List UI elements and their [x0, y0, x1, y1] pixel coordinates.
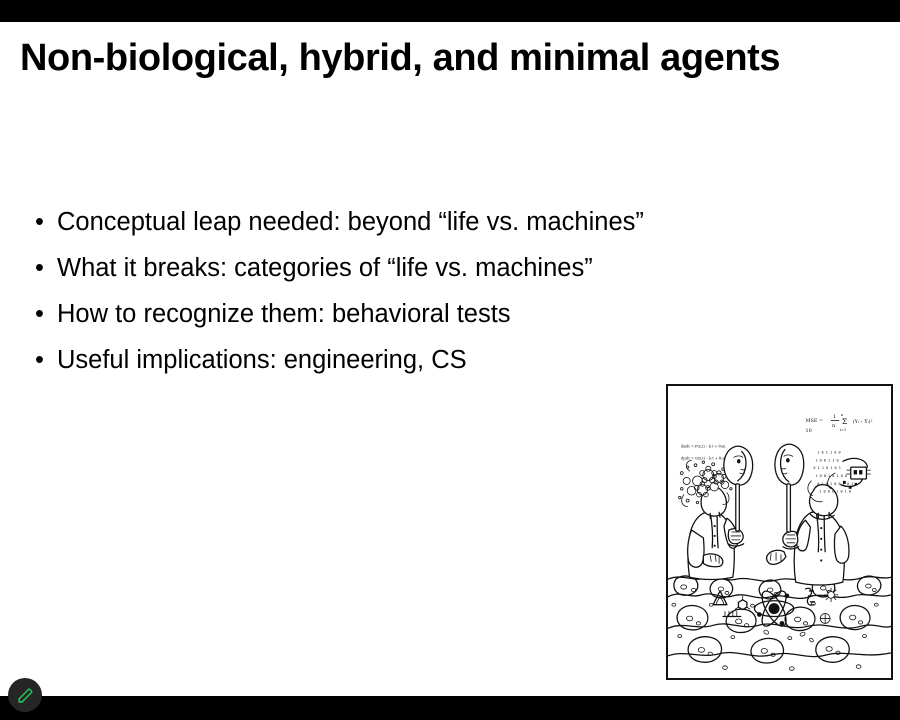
svg-text:1 0 1 1 0 0: 1 0 1 1 0 0	[817, 450, 840, 454]
slide-figure-two-scientists-with-masks-cartoon: .ln{fill:none;stroke:#111;stroke-width:1…	[666, 384, 893, 680]
viewer-top-bar	[0, 0, 900, 22]
svg-text:1: 1	[833, 414, 836, 420]
svg-text:0 1 1 0 1 0 1: 0 1 1 0 1 0 1	[813, 466, 841, 470]
slide-canvas: Non-biological, hybrid, and minimal agen…	[0, 22, 900, 696]
svg-text:1 0 0 1 1 0: 1 0 0 1 1 0	[815, 458, 838, 462]
bullet-item-2: What it breaks: categories of “life vs. …	[33, 250, 733, 286]
svg-text:(Yᵢ – Ŷᵢ)²: (Yᵢ – Ŷᵢ)²	[853, 417, 873, 425]
slide-bullet-list: Conceptual leap needed: beyond “life vs.…	[33, 204, 733, 388]
svg-text:10: 10	[806, 428, 812, 434]
bullet-item-1: Conceptual leap needed: beyond “life vs.…	[33, 204, 657, 240]
mse-label: MSE =	[806, 418, 824, 424]
svg-text:0 1 0 1 0 0 1 0 1: 0 1 0 1 0 0 1 0 1	[817, 482, 853, 486]
bullet-item-2-text: What it breaks: categories of “life vs. …	[57, 254, 593, 282]
left-equation-2: dy/dt = G(x,t) – k·t + θ₂m	[681, 456, 727, 460]
edit-button[interactable]	[8, 678, 42, 712]
bullet-item-3: How to recognize them: behavioral tests	[33, 296, 733, 332]
slide-viewer: Non-biological, hybrid, and minimal agen…	[0, 0, 900, 720]
bullet-item-1-text: Conceptual leap needed: beyond “life vs.…	[57, 208, 644, 236]
svg-text:Σ: Σ	[842, 417, 848, 426]
pencil-icon	[16, 686, 35, 705]
circuit-chip	[847, 467, 871, 479]
cartoon-illustration: .ln{fill:none;stroke:#111;stroke-width:1…	[668, 386, 891, 678]
bullet-item-4-text: Useful implications: engineering, CS	[57, 346, 467, 374]
viewer-bottom-bar	[0, 696, 900, 720]
bullet-item-4: Useful implications: engineering, CS	[33, 342, 733, 378]
svg-text:i=1: i=1	[840, 428, 846, 432]
svg-text:1 0 0 0 1 0 1 0: 1 0 0 0 1 0 1 0	[819, 490, 851, 494]
left-equation-1: dx/dt = F(x,t) – k·t + θ₁m	[681, 445, 726, 449]
bullet-item-3-text: How to recognize them: behavioral tests	[57, 300, 511, 328]
slide-title: Non-biological, hybrid, and minimal agen…	[20, 35, 885, 81]
